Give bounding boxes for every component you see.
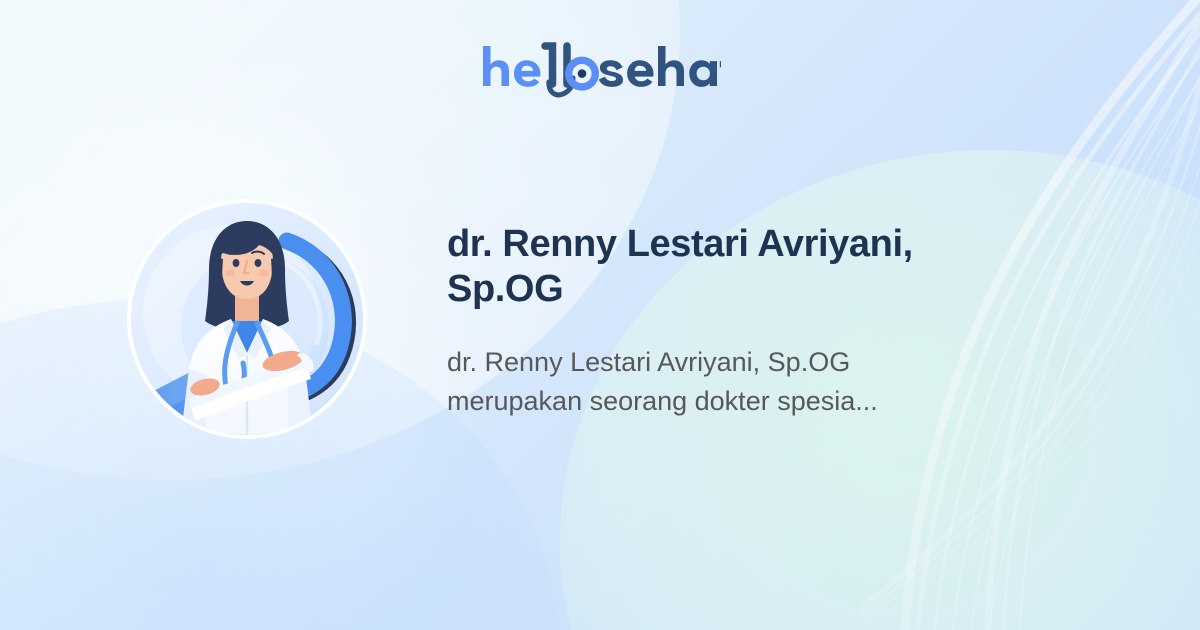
doctor-illustration bbox=[131, 203, 363, 435]
hellosehat-logo[interactable] bbox=[481, 42, 721, 98]
page-title: dr. Renny Lestari Avriyani, Sp.OG bbox=[447, 222, 1007, 312]
doctor-description: dr. Renny Lestari Avriyani, Sp.OG merupa… bbox=[447, 312, 987, 421]
avatar bbox=[127, 199, 367, 439]
logo-sehat-part bbox=[599, 46, 721, 87]
share-card: dr. Renny Lestari Avriyani, Sp.OG dr. Re… bbox=[0, 0, 1200, 630]
doctor-info-block: dr. Renny Lestari Avriyani, Sp.OG dr. Re… bbox=[447, 222, 1007, 421]
logo-hello-part bbox=[483, 46, 595, 95]
